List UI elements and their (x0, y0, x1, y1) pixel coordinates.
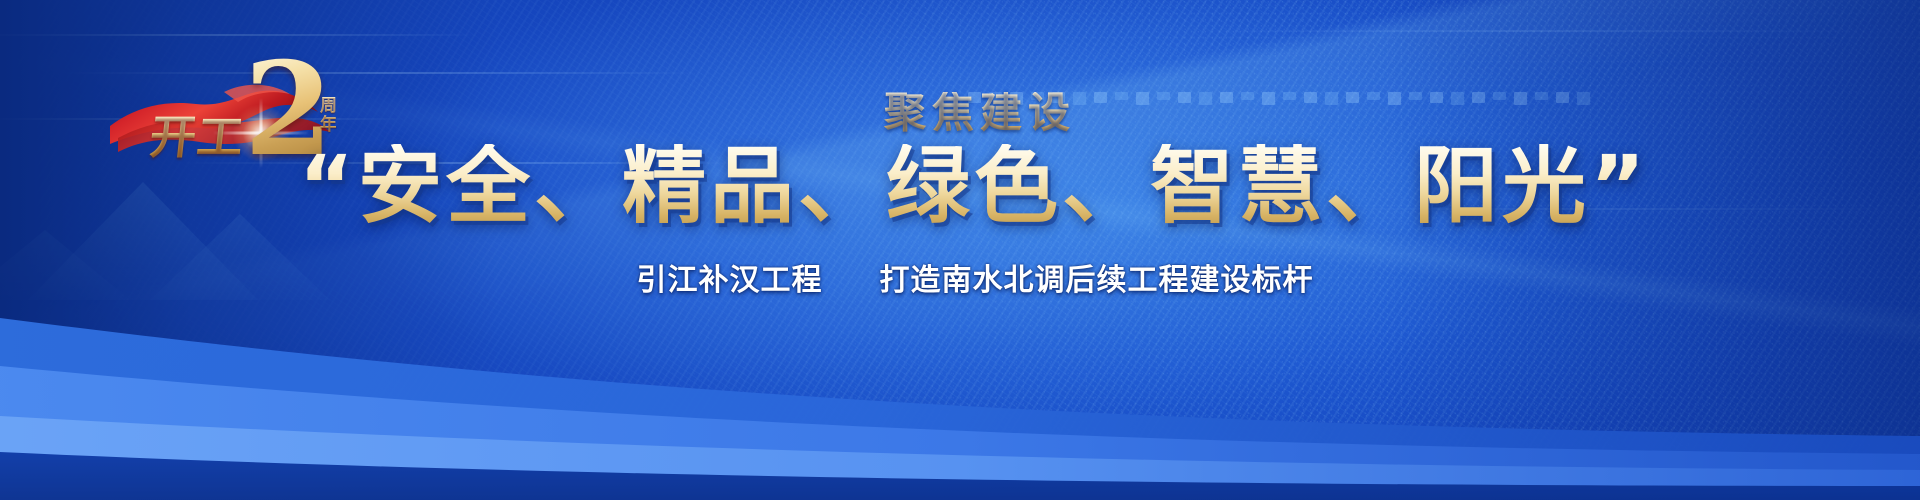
subtitle-right: 打造南水北调后续工程建设标杆 (879, 263, 1313, 298)
headline-text: “安全、精品、绿色、智慧、阳光” (299, 144, 1649, 230)
subtitle-left: 引江补汉工程 (637, 263, 823, 298)
banner-copy-block: 聚焦建设 “安全、精品、绿色、智慧、阳光” 引江补汉工程 打造南水北调后续工程建… (0, 0, 1920, 500)
eyebrow-text: 聚焦建设 (884, 92, 1076, 134)
promotional-banner: 开工 2 周年 聚焦建设 “安全、精品、绿色、智慧、阳光” 引江补汉工程 打造南… (0, 0, 1920, 500)
subtitle-text: 引江补汉工程 打造南水北调后续工程建设标杆 (637, 266, 1314, 296)
